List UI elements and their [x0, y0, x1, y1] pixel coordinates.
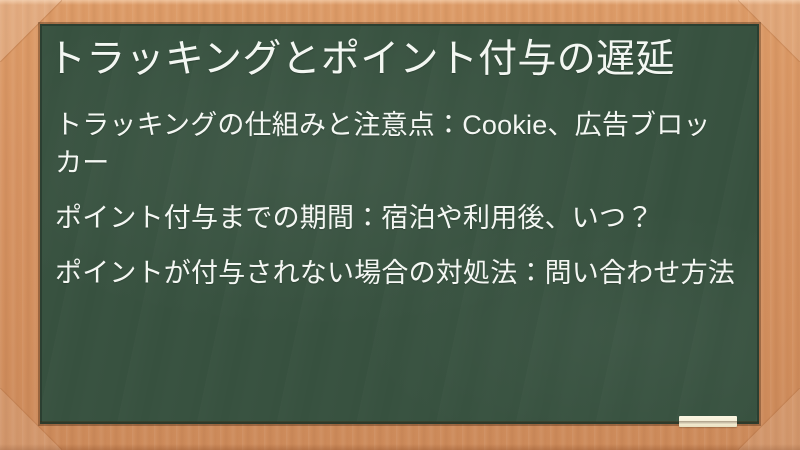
chalkboard-graphic: トラッキングとポイント付与の遅延 トラッキングの仕組みと注意点：Cookie、広…	[0, 0, 800, 450]
list-item: トラッキングの仕組みと注意点：Cookie、広告ブロッカー	[55, 106, 735, 182]
topic-list: トラッキングの仕組みと注意点：Cookie、広告ブロッカー ポイント付与までの期…	[55, 106, 735, 292]
list-item: ポイント付与までの期間：宿泊や利用後、いつ？	[55, 199, 735, 237]
frame-bottom-shadow	[0, 444, 800, 450]
chalkboard-surface: トラッキングとポイント付与の遅延 トラッキングの仕組みと注意点：Cookie、広…	[42, 26, 757, 422]
page-title: トラッキングとポイント付与の遅延	[47, 34, 745, 86]
chalkboard-content: トラッキングとポイント付与の遅延 トラッキングの仕組みと注意点：Cookie、広…	[42, 26, 757, 422]
chalk-tray-shadow	[40, 421, 759, 424]
list-item: ポイントが付与されない場合の対処法：問い合わせ方法	[55, 254, 735, 292]
chalkboard-bevel: トラッキングとポイント付与の遅延 トラッキングの仕組みと注意点：Cookie、広…	[40, 24, 759, 424]
frame-top-highlight	[0, 0, 800, 5]
chalkboard-panel: トラッキングとポイント付与の遅延 トラッキングの仕組みと注意点：Cookie、広…	[40, 24, 759, 424]
